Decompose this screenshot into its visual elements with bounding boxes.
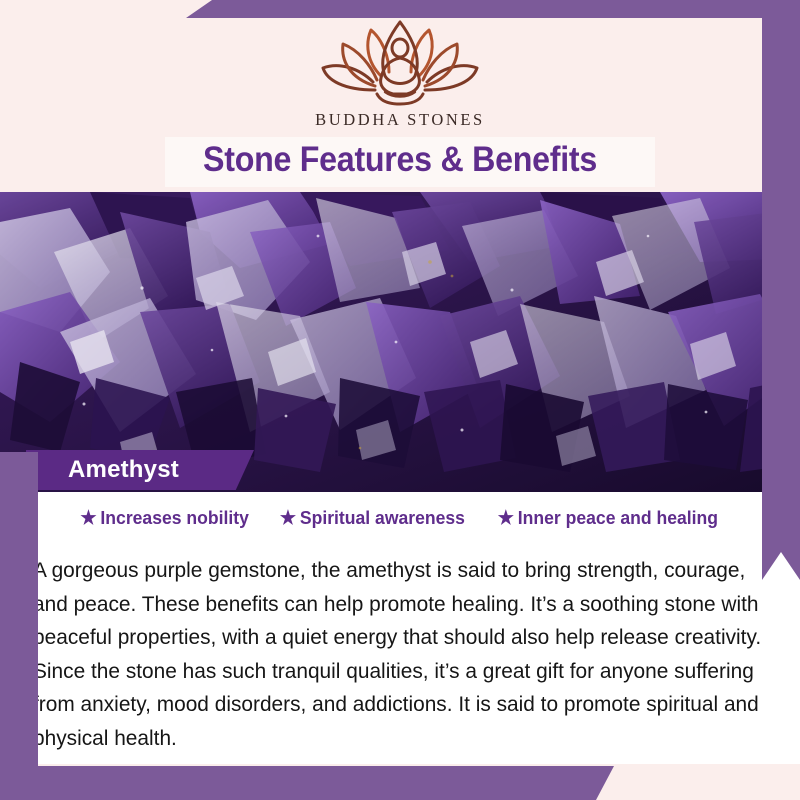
feature-item-2: ★ Inner peace and healing <box>498 507 718 529</box>
star-icon: ★ <box>280 509 296 528</box>
feature-label: Spiritual awareness <box>300 507 465 529</box>
stone-details-panel: ★ Increases nobility ★ Spiritual awarene… <box>0 492 800 764</box>
feature-list: ★ Increases nobility ★ Spiritual awarene… <box>0 507 800 529</box>
feature-label: Increases nobility <box>100 507 248 529</box>
product-info-card: BUDDHA STONES Stone Features & Benefits <box>0 0 800 800</box>
feature-item-0: ★ Increases nobility <box>80 507 248 529</box>
page-title: Stone Features & Benefits <box>32 136 768 184</box>
stone-name-label: Amethyst <box>68 450 179 490</box>
feature-item-1: ★ Spiritual awareness <box>280 507 465 529</box>
feature-label: Inner peace and healing <box>518 507 718 529</box>
star-icon: ★ <box>80 509 96 528</box>
stone-name-badge: Amethyst <box>26 450 254 490</box>
star-icon: ★ <box>498 509 514 528</box>
lotus-meditation-icon <box>315 18 485 106</box>
amethyst-crystal-image <box>0 192 800 492</box>
brand-logo: BUDDHA STONES <box>0 18 800 130</box>
brand-name: BUDDHA STONES <box>315 110 485 130</box>
stone-description: A gorgeous purple gemstone, the amethyst… <box>33 554 764 755</box>
